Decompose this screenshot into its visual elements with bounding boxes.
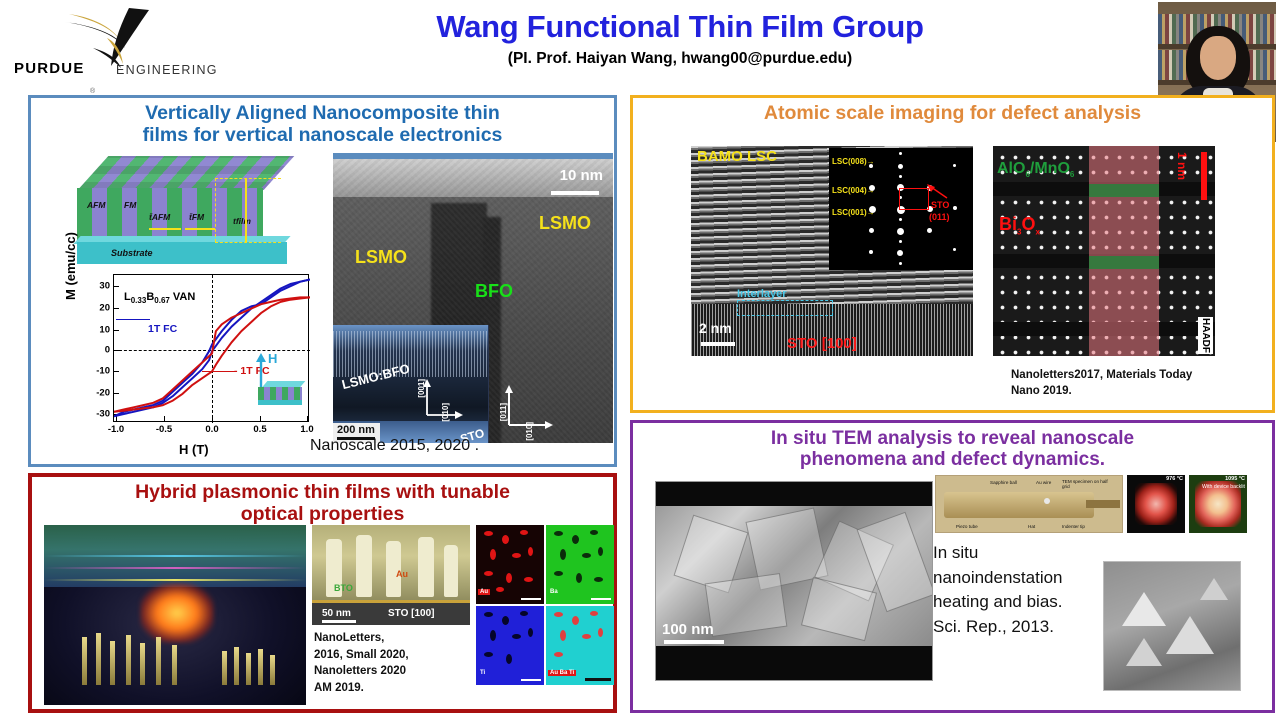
heating-temperature-label: 976 °C: [1166, 476, 1183, 482]
insitu-description-text: In situ nanoindenstation heating and bia…: [933, 541, 1108, 640]
insitu-text-line2: nanoindenstation: [933, 568, 1063, 587]
insitu-text-line4: Sci. Rep., 2013.: [933, 617, 1054, 636]
schematic-substrate: [77, 242, 287, 264]
logo-engineering-text: ENGINEERING: [116, 63, 218, 77]
chart-legend-line-red: [202, 371, 236, 372]
schematic-label-substrate: Substrate: [111, 248, 153, 258]
schematic-arrow-fm: [185, 228, 215, 230]
plasmonic-label-bto: BTO: [334, 583, 353, 593]
schematic-label-fm: FM: [124, 200, 136, 210]
eds-map-ba: Ba: [546, 525, 614, 604]
atomic-citation-line2: Nano 2019.: [1011, 385, 1072, 397]
logo-wordmark: PURDUE: [14, 60, 85, 77]
chart-xtick: 1.0: [300, 424, 313, 435]
plasmonic-wave: [44, 579, 306, 581]
atomic-stem-image: BAMO LSC Interlayer STO [100] 2 nm: [691, 146, 973, 356]
insitu-sem-image: [1103, 561, 1241, 691]
plasmonic-label-sto: STO [100]: [388, 608, 435, 619]
stem-scalebar: [701, 342, 735, 346]
chart-ytick: -20: [96, 388, 110, 399]
panel-hybrid-plasmonic: Hybrid plasmonic thin films with tunable…: [28, 473, 617, 713]
tem-label-bfo: BFO: [475, 281, 513, 302]
tem-label-lsmo-left: LSMO: [355, 247, 407, 268]
heating-caption: With device backlit: [1202, 484, 1245, 490]
schematic-label-t-afm: t̄AFM: [149, 212, 170, 222]
insitu-heating-image-976c: 976 °C: [1127, 475, 1185, 533]
insitu-holder-photo: Sapphire ball Au wire TEM specimen on ha…: [935, 475, 1123, 533]
plasmonic-wave: [44, 555, 306, 557]
chart-xtick: -1.0: [108, 424, 124, 435]
logo-registered-mark: ®: [90, 88, 95, 95]
chart-ytick: 0: [105, 345, 110, 356]
atomic-haadf-image: AlO6/MnO6 Bi3Ox 1 nm HAADF: [993, 146, 1215, 356]
heating-temperature-label: 1095 °C: [1225, 476, 1245, 482]
portrait-face: [1200, 36, 1236, 80]
chart-inset-cube: [258, 381, 304, 405]
haadf-label-alo-mno: AlO6/MnO6: [997, 160, 1074, 179]
insitu-scalebar: [664, 640, 724, 644]
van-citation: Nanoscale 2015, 2020 .: [310, 437, 479, 455]
schematic-dashed-top: [215, 178, 281, 179]
holder-indenter-tip: [1086, 500, 1120, 508]
haadf-pink-region: [1089, 146, 1159, 356]
haadf-scalebar: [1201, 152, 1207, 200]
magnetization-hysteresis-chart: 30 20 10 0 -10 -20 -30 -1.0 -0.5 0.0 0.5…: [69, 266, 325, 466]
insitu-tem-image: 100 nm: [655, 481, 933, 681]
holder-label-auwire: Au wire: [1036, 480, 1051, 485]
plasmonic-scalebar-label: 50 nm: [322, 608, 351, 619]
insitu-scalebar-label: 100 nm: [662, 621, 714, 638]
eds-element-tag: Au: [478, 589, 490, 595]
stem-label-bamo-lsc: BAMO LSC: [697, 148, 777, 165]
chart-ytick: -30: [96, 409, 110, 420]
plasmonic-citation-line2: 2016, Small 2020,: [314, 649, 409, 661]
plasmonic-scalebar: [322, 620, 356, 623]
van-schematic-diagram: AFM FM t̄AFM t̄FM tfilm Substrate: [67, 156, 307, 264]
insitu-heating-image-1095c: 1095 °C With device backlit: [1189, 475, 1247, 533]
stem-scalebar-label: 2 nm: [699, 320, 732, 336]
tem-scalebar-label: 10 nm: [560, 167, 603, 184]
schematic-dashed-left: [215, 178, 281, 242]
diffraction-arrow-icon: [927, 184, 949, 200]
sapphire-ball-icon: [1044, 498, 1050, 504]
tem-axis-label-horizontal: [010]: [525, 422, 534, 441]
chart-legend-1t-fc: 1T FC: [148, 323, 177, 335]
panel-plasmonic-heading: Hybrid plasmonic thin films with tunable…: [32, 477, 613, 526]
eds-map-overlay: Au Ba Ti: [546, 606, 614, 685]
plasmonic-label-au: Au: [396, 569, 408, 579]
diffraction-label-sto-index: (011): [929, 212, 950, 222]
chart-ytick: 20: [99, 303, 110, 314]
eds-element-tag-combined: Au Ba Ti: [548, 670, 576, 676]
haadf-scalebar-label: 1 nm: [1175, 152, 1189, 180]
holder-label-piezo: Piezo tube: [956, 524, 978, 529]
holder-body: [944, 492, 1094, 518]
tem-axis-label-vertical: [011]: [499, 403, 508, 421]
haadf-green-band: [1089, 256, 1159, 269]
panel-van-heading-line2: films for vertical nanoscale electronics: [143, 124, 503, 146]
panel-van-heading-line1: Vertically Aligned Nanocomposite thin: [145, 102, 500, 124]
panel-van-heading: Vertically Aligned Nanocomposite thin fi…: [31, 98, 614, 147]
chart-legend-line-blue: [116, 319, 150, 320]
plasmonic-citation: NanoLetters, 2016, Small 2020, Nanolette…: [314, 630, 409, 697]
tem-label-lsmo-top: LSMO: [539, 213, 591, 234]
panel-insitu-heading-line2: phenomena and defect dynamics.: [800, 449, 1105, 470]
plasmonic-hotspot-glow: [140, 583, 214, 643]
inset-axis-vertical: [001]: [417, 379, 426, 398]
schematic-dashed-bottom: [215, 242, 281, 243]
chart-xtick: -0.5: [156, 424, 172, 435]
holder-label-indenter: Indenter tip: [1062, 524, 1085, 529]
schematic-arrow-tfilm: [245, 178, 247, 242]
tem-scalebar: [551, 191, 599, 195]
haadf-detector-label: HAADF: [1200, 318, 1211, 353]
insitu-bottom-dark-band: [656, 646, 932, 680]
plasmonic-citation-line4: AM 2019.: [314, 682, 364, 694]
diffraction-label-lsc008: LSC(008)→: [832, 157, 875, 166]
diffraction-label-lsc004: LSC(004)→: [832, 186, 875, 195]
chart-xtick: 0.5: [253, 424, 266, 435]
schematic-arrow-afm: [149, 228, 181, 230]
diffraction-sto-box: [899, 188, 929, 210]
atomic-citation: Nanoletters2017, Materials Today Nano 20…: [1011, 368, 1192, 399]
stem-interlayer-box: [737, 300, 833, 316]
haadf-label-bi3ox: Bi3Ox: [999, 214, 1040, 237]
eds-element-tag: Ba: [548, 589, 560, 595]
stem-label-sto: STO [100]: [787, 335, 857, 352]
haadf-green-band: [1089, 184, 1159, 197]
panel-insitu-heading-line1: In situ TEM analysis to reveal nanoscale: [771, 428, 1134, 449]
page-subtitle: (PI. Prof. Haiyan Wang, hwang00@purdue.e…: [210, 50, 1150, 68]
purdue-engineering-logo: PURDUE ENGINEERING ®: [8, 8, 203, 86]
page-title: Wang Functional Thin Film Group: [210, 10, 1150, 44]
insitu-top-dark-band: [656, 482, 932, 508]
chart-xlabel: H (T): [179, 442, 209, 457]
page-header: PURDUE ENGINEERING ® Wang Functional Thi…: [0, 0, 1280, 92]
plasmonic-tem-image: Au BTO 50 nm STO [100]: [312, 525, 470, 625]
panel-vertically-aligned-nanocomposite: Vertically Aligned Nanocomposite thin fi…: [28, 95, 617, 467]
inset-nanocolumns: [333, 331, 488, 377]
schematic-label-afm: AFM: [87, 200, 105, 210]
plasmonic-citation-line3: Nanoletters 2020: [314, 665, 406, 677]
panel-atomic-heading: Atomic scale imaging for defect analysis: [633, 98, 1272, 125]
haadf-detector-badge: HAADF: [1198, 317, 1213, 354]
panel-insitu-heading: In situ TEM analysis to reveal nanoscale…: [633, 423, 1272, 471]
chart-h-arrow-label: H: [268, 351, 277, 366]
heating-glow: [1135, 483, 1177, 525]
title-block: Wang Functional Thin Film Group (PI. Pro…: [210, 10, 1150, 68]
chart-ytick: 30: [99, 281, 110, 292]
holder-label-hat: Hat: [1028, 524, 1035, 529]
eds-map-au: Au: [476, 525, 544, 604]
plasmonic-artistic-rendering: [44, 525, 306, 705]
chart-xtick: 0.0: [205, 424, 218, 435]
plasmonic-eds-maps: Au Ba Ti: [476, 525, 614, 685]
chart-plot-area: 30 20 10 0 -10 -20 -30 -1.0 -0.5 0.0 0.5…: [113, 274, 309, 422]
chart-ytick: -10: [96, 366, 110, 377]
diffraction-pattern-inset: LSC(008)→ LSC(004)→ LSC(001)→ STO (011): [829, 148, 973, 270]
eds-map-ti: Ti: [476, 606, 544, 685]
chart-inplot-title: L0.33B0.67 VAN: [124, 291, 195, 305]
insitu-text-line3: heating and bias.: [933, 592, 1063, 611]
plasmonic-citation-line1: NanoLetters,: [314, 632, 384, 644]
stem-label-interlayer: Interlayer: [737, 288, 787, 300]
chart-ytick: 10: [99, 325, 110, 336]
inset-scalebar-label: 200 nm: [337, 424, 375, 436]
van-tem-image: 10 nm LSMO LSMO BFO [011] [010] LSMO:BFO…: [333, 153, 613, 443]
eds-element-tag: Ti: [478, 670, 487, 676]
insitu-text-line1: In situ: [933, 543, 978, 562]
schematic-label-t-fm: t̄FM: [189, 212, 204, 222]
panel-atomic-scale-imaging: Atomic scale imaging for defect analysis…: [630, 95, 1275, 413]
atomic-citation-line1: Nanoletters2017, Materials Today: [1011, 369, 1192, 381]
panel-in-situ-tem: In situ TEM analysis to reveal nanoscale…: [630, 420, 1275, 713]
holder-label-specimen: TEM specimen on half grid: [1062, 479, 1114, 489]
holder-label-sapphire: Sapphire ball: [990, 480, 1017, 485]
diffraction-label-sto: STO: [931, 200, 949, 210]
tem-inset-image: LSMO:BFO [001] [010] STO 200 nm: [333, 325, 489, 443]
panel-plasmonic-heading-line1: Hybrid plasmonic thin films with tunable: [135, 481, 510, 503]
chart-ylabel: M (emu/cc): [63, 210, 78, 300]
panel-plasmonic-heading-line2: optical properties: [241, 503, 405, 525]
inset-axis-horizontal: [010]: [441, 403, 450, 422]
diffraction-label-lsc001: LSC(001)→: [832, 208, 875, 217]
plasmonic-wave: [44, 567, 306, 569]
